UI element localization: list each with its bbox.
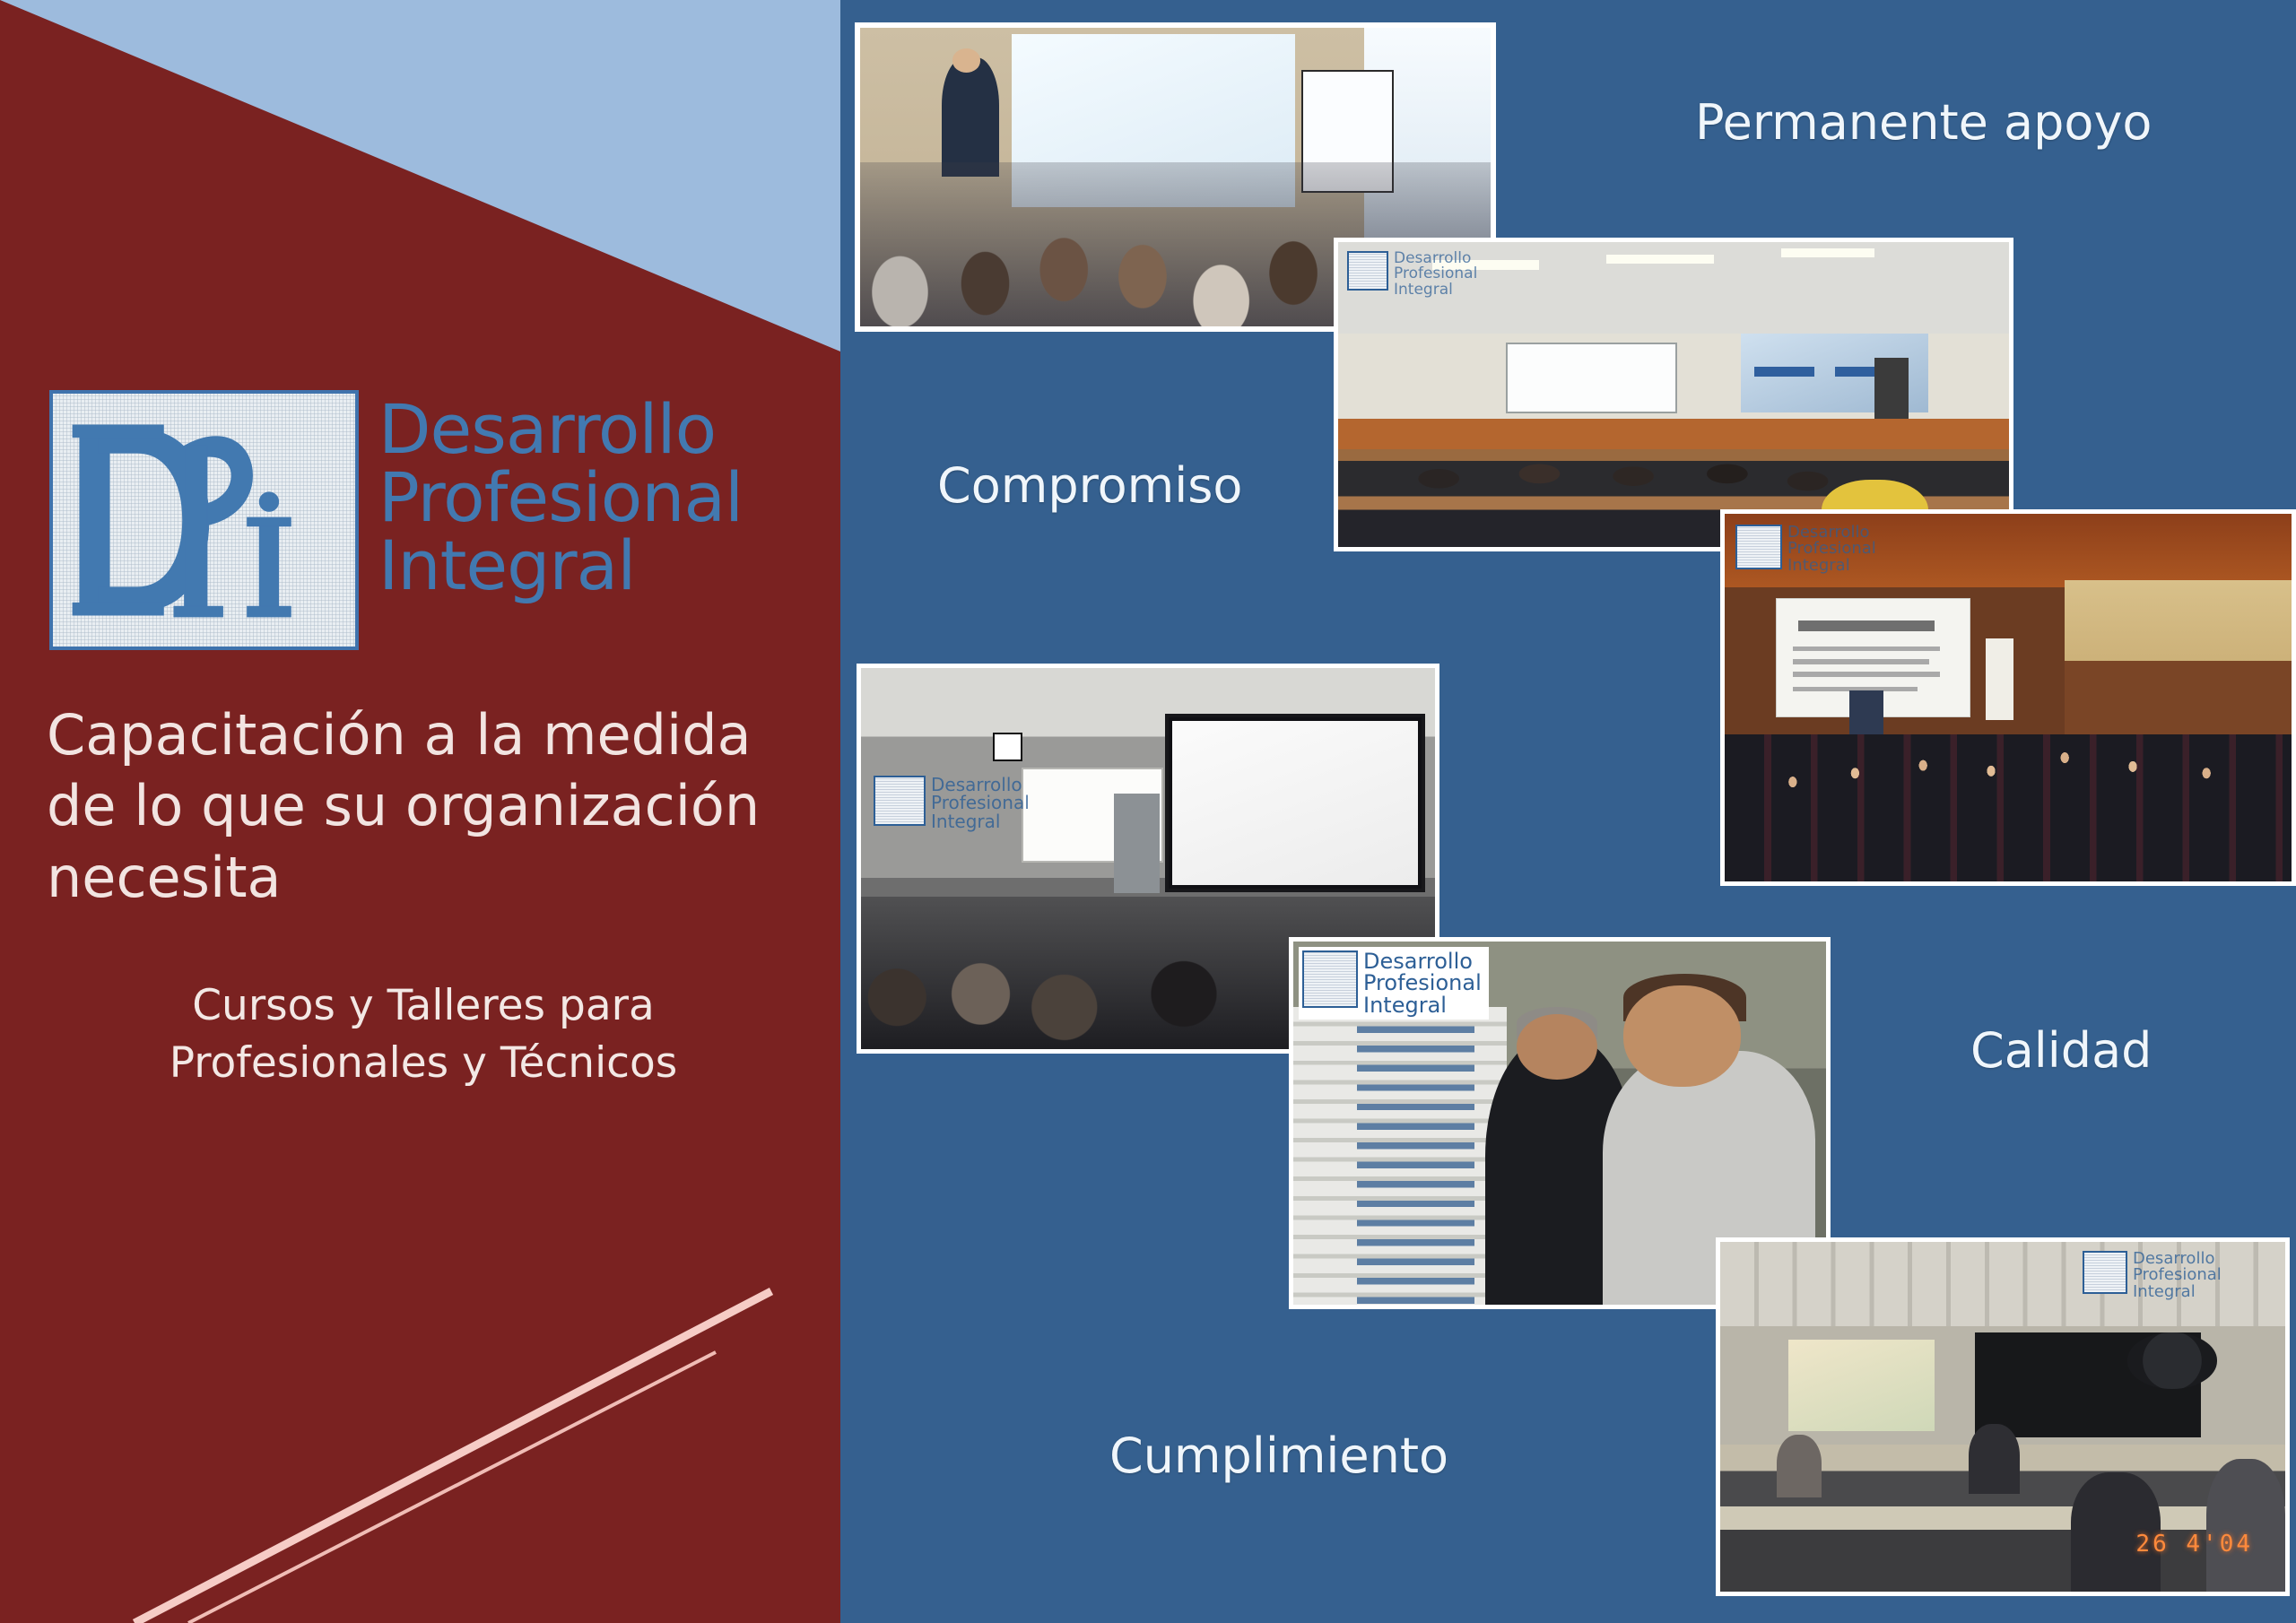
photo-classroom-seminar: Desarrollo Profesional Integral 26 4'04: [1716, 1237, 2290, 1596]
photo-classroom-projector: Desarrollo Profesional Integral: [1334, 238, 2013, 551]
photo-watermark: Desarrollo Profesional Integral: [1299, 947, 1489, 1020]
brand-line-2: Profesional: [378, 464, 743, 532]
photo-watermark: Desarrollo Profesional Integral: [874, 776, 1030, 830]
value-word-permanente-apoyo: Permanente apoyo: [1695, 94, 2152, 151]
tagline-text: Capacitación a la medida de lo que su or…: [47, 699, 773, 913]
dpi-monogram-icon: [49, 390, 359, 650]
photo-watermark: Desarrollo Profesional Integral: [2083, 1251, 2222, 1300]
brand-line-3: Integral: [378, 532, 743, 600]
camera-timestamp: 26 4'04: [2135, 1531, 2253, 1558]
photo-watermark: Desarrollo Profesional Integral: [1735, 525, 1876, 574]
brand-wordmark: Desarrollo Profesional Integral: [378, 390, 743, 600]
brand-line-1: Desarrollo: [378, 395, 743, 464]
photo-auditorium-hands: Desarrollo Profesional Integral: [1720, 509, 2296, 886]
value-word-calidad: Calidad: [1970, 1022, 2152, 1079]
subline-text: Cursos y Talleres para Profesionales y T…: [47, 977, 800, 1092]
slide-canvas: Desarrollo Profesional Integral Capacita…: [0, 0, 2296, 1623]
photo-watermark: Desarrollo Profesional Integral: [1347, 251, 1477, 298]
value-word-compromiso: Compromiso: [937, 457, 1242, 514]
subline-line-1: Cursos y Talleres para: [47, 977, 800, 1035]
brand-logo: Desarrollo Profesional Integral: [49, 390, 743, 650]
value-word-cumplimiento: Cumplimiento: [1109, 1428, 1448, 1484]
subline-line-2: Profesionales y Técnicos: [47, 1035, 800, 1092]
